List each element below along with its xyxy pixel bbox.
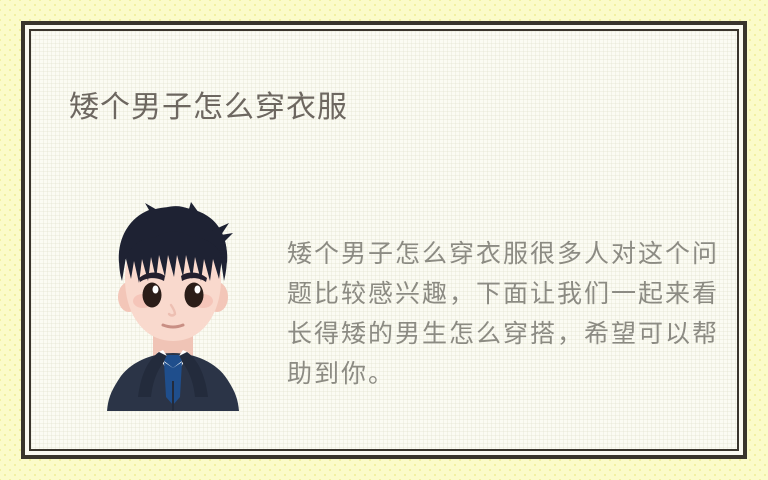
- outer-frame-border: 矮个男子怎么穿衣服: [21, 21, 747, 459]
- inner-frame-border: 矮个男子怎么穿衣服: [29, 29, 739, 451]
- page-background: 矮个男子怎么穿衣服: [0, 0, 768, 480]
- article-paragraph: 矮个男子怎么穿衣服很多人对这个问题比较感兴趣，下面让我们一起来看长得矮的男生怎么…: [287, 234, 739, 394]
- young-man-avatar-illustration: [93, 201, 253, 411]
- article-body: 矮个男子怎么穿衣服很多人对这个问题比较感兴趣，下面让我们一起来看长得矮的男生怎么…: [41, 191, 719, 411]
- page-title: 矮个男子怎么穿衣服: [69, 89, 348, 127]
